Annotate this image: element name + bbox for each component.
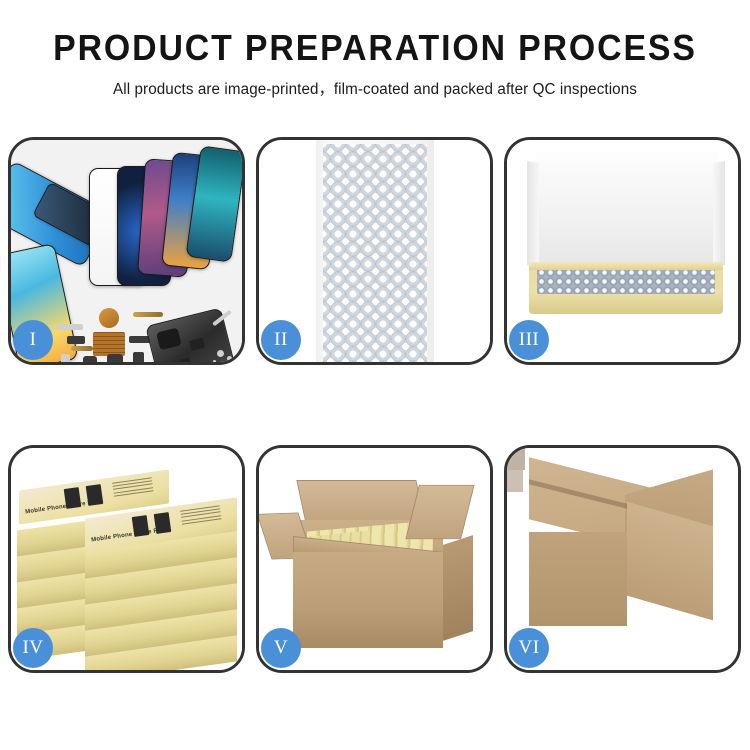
part-copper-coil	[99, 308, 119, 328]
steps-grid: I II III	[8, 137, 742, 673]
step-badge-2: II	[261, 320, 301, 360]
part-speaker	[107, 354, 123, 362]
step-badge-6: VI	[509, 628, 549, 668]
part-button-cap	[83, 356, 97, 362]
box-print-screen-r2	[154, 512, 172, 534]
page-subtitle: All products are image-printed，film-coat…	[8, 77, 743, 99]
part-bracket-1	[67, 336, 85, 344]
carton-side	[443, 535, 473, 641]
step-card-3: III	[504, 137, 741, 365]
part-connector-strip	[57, 324, 83, 330]
carton-body	[293, 552, 443, 648]
box-lid-open	[535, 152, 717, 270]
crack-pattern-icon	[236, 237, 242, 269]
header: PRODUCT PREPARATION PROCESS All products…	[0, 0, 750, 99]
part-shield-mesh	[93, 332, 125, 356]
part-sim-tray	[61, 354, 70, 362]
box-print-screen-l1	[64, 487, 82, 509]
step-badge-4: IV	[13, 628, 53, 668]
part-screws	[217, 350, 224, 357]
step-card-1: I	[8, 137, 245, 365]
bubble-grid-layer-2	[323, 144, 427, 362]
box-print-screen-l2	[86, 484, 104, 506]
part-flex-cable-2	[71, 346, 93, 351]
part-flex-cable-1	[133, 312, 163, 317]
step-badge-5: V	[261, 628, 301, 668]
part-camera-module	[133, 352, 144, 362]
step-card-6: VI	[504, 445, 741, 673]
step-card-4: Mobile Phone Spare Parts Mobile Phone Sp…	[8, 445, 245, 673]
step-badge-1: I	[13, 320, 53, 360]
box-tray-lip	[529, 262, 723, 270]
sealed-carton-tab-upper	[507, 448, 525, 470]
step-card-2: II	[256, 137, 493, 365]
carton-flap-back	[296, 480, 425, 524]
product-preparation-infographic: PRODUCT PREPARATION PROCESS All products…	[0, 0, 750, 750]
step-badge-3: III	[509, 320, 549, 360]
carton-flap-right	[405, 485, 474, 539]
sealed-carton-tab-lower	[507, 470, 523, 492]
page-title: PRODUCT PREPARATION PROCESS	[23, 28, 728, 68]
step-card-5: V	[256, 445, 493, 673]
sealed-carton-front	[529, 532, 627, 626]
box-print-screen-r1	[132, 515, 150, 537]
bubble-wrapped-contents	[537, 268, 715, 294]
